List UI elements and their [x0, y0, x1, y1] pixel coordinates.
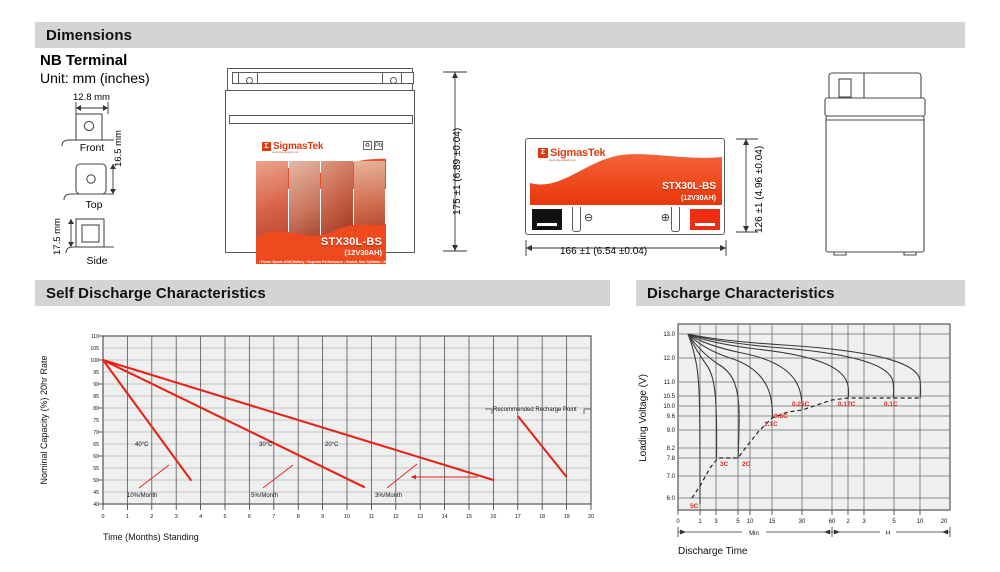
svg-text:17: 17	[515, 514, 521, 520]
sd-y-tick-labels: 110105100 959085 807570 656055 504540	[90, 334, 99, 508]
svg-text:65: 65	[93, 442, 99, 448]
sd-annot-recharge: Recommended Recharge Point	[493, 407, 577, 413]
svg-text:7.0: 7.0	[667, 474, 676, 480]
svg-text:1: 1	[698, 519, 702, 525]
svg-text:20: 20	[941, 519, 948, 525]
svg-text:55: 55	[93, 466, 99, 472]
section-title-self-discharge: Self Discharge Characteristics	[35, 285, 266, 302]
sd-annot-20c: 20°C	[325, 442, 339, 448]
battery-front-view: Σ SigmasTek www.sigmastek.com ♻ Pb STX30…	[225, 68, 415, 253]
battery-tagline: • Power Sports AGM Battery • Superior Pe…	[259, 260, 386, 264]
svg-text:3: 3	[862, 519, 866, 525]
sd-x-ticks	[103, 504, 591, 510]
svg-text:12: 12	[393, 514, 399, 520]
negative-polarity-icon: ⊖	[584, 213, 593, 224]
nb-terminal-title: NB Terminal	[40, 52, 127, 69]
sd-annot-30c: 30°C	[259, 442, 273, 448]
dc-x-ticks	[678, 510, 920, 515]
svg-text:3: 3	[714, 519, 718, 525]
svg-text:5: 5	[224, 514, 227, 520]
svg-text:13: 13	[417, 514, 423, 520]
battery-top-label: Σ SigmasTek www.sigmastek.com STX30L-BS …	[530, 143, 722, 205]
svg-text:6: 6	[248, 514, 251, 520]
svg-text:0: 0	[102, 514, 105, 520]
dc-label-025c: 0.25C	[792, 401, 810, 408]
svg-text:20: 20	[588, 514, 594, 520]
svg-text:7: 7	[272, 514, 275, 520]
svg-text:1: 1	[126, 514, 129, 520]
sd-y-axis-title: Nominal Capacity (%) 20hr Rate	[39, 355, 49, 484]
svg-text:10.5: 10.5	[663, 394, 675, 400]
sd-annot-40c: 40°C	[135, 442, 149, 448]
svg-text:80: 80	[93, 406, 99, 412]
battery-top-view: Σ SigmasTek www.sigmastek.com STX30L-BS …	[525, 138, 725, 235]
battery-vent-left	[238, 72, 258, 84]
svg-text:3: 3	[175, 514, 178, 520]
svg-text:8: 8	[297, 514, 300, 520]
terminal-view-top-label: Top	[64, 199, 124, 211]
svg-text:14: 14	[442, 514, 448, 520]
dc-plot-area	[678, 324, 950, 510]
battery-label-artwork: Σ SigmasTek www.sigmastek.com ♻ Pb STX30…	[256, 139, 386, 264]
svg-text:45: 45	[93, 490, 99, 496]
svg-text:75: 75	[93, 418, 99, 424]
svg-text:16: 16	[490, 514, 496, 520]
unit-label: Unit: mm (inches)	[40, 70, 150, 86]
svg-text:85: 85	[93, 394, 99, 400]
svg-text:30: 30	[799, 519, 806, 525]
svg-text:100: 100	[90, 358, 99, 364]
svg-text:10: 10	[747, 519, 754, 525]
dc-y-tick-labels: 13.0 12.0 11.0 10.5 10.0 9.6 9.0 8.2 7.8…	[663, 332, 675, 502]
svg-text:19: 19	[564, 514, 570, 520]
battery-model-front: STX30L-BS	[321, 236, 382, 248]
dc-label-3c: 3C	[720, 461, 729, 468]
terminal-depth-dimension: 17.5 mm	[52, 218, 63, 255]
svg-text:95: 95	[93, 370, 99, 376]
svg-text:10: 10	[344, 514, 350, 520]
terminal-views-drawing	[40, 88, 200, 273]
battery-case-shelf	[229, 115, 413, 124]
recycle-icon: ♻	[363, 141, 372, 150]
sd-x-tick-labels: 012 345 678 91011 121314 151617 181920	[102, 514, 595, 520]
battery-case: Σ SigmasTek www.sigmastek.com ♻ Pb STX30…	[225, 90, 415, 253]
svg-text:60: 60	[93, 454, 99, 460]
eco-icon-group: ♻ Pb	[363, 141, 383, 150]
discharge-chart: 13.0 12.0 11.0 10.5 10.0 9.6 9.0 8.2 7.8…	[632, 318, 972, 568]
positive-polarity-icon: ⊕	[661, 213, 670, 224]
svg-text:13.0: 13.0	[663, 332, 675, 338]
dimensions-content: NB Terminal Unit: mm (inches)	[0, 0, 1000, 270]
svg-text:105: 105	[90, 346, 99, 352]
dc-span-label-h: H	[886, 531, 890, 537]
svg-text:15: 15	[769, 519, 776, 525]
battery-terminal-row: ⊖ ⊕	[530, 207, 722, 232]
brand-url-top: www.sigmastek.com	[549, 158, 576, 162]
svg-text:10.0: 10.0	[663, 404, 675, 410]
section-header-self-discharge: Self Discharge Characteristics	[35, 280, 610, 306]
battery-model-top: STX30L-BS	[662, 181, 716, 192]
dc-label-0.6c: 0.6C	[774, 413, 788, 420]
dc-label-5c: 5C	[690, 503, 699, 510]
svg-text:18: 18	[539, 514, 545, 520]
dc-span-label-min: Min	[749, 531, 759, 537]
dc-label-017c: 0.17C	[838, 401, 856, 408]
svg-text:4: 4	[199, 514, 202, 520]
svg-text:8.2: 8.2	[667, 446, 676, 452]
sd-annot-10pct: 10%/Month	[127, 493, 157, 499]
svg-text:60: 60	[829, 519, 836, 525]
svg-text:40: 40	[93, 502, 99, 508]
svg-text:11: 11	[369, 514, 375, 520]
svg-text:5: 5	[892, 519, 896, 525]
terminal-height-dimension: 16.5 mm	[113, 130, 124, 167]
terminal-tab-right	[671, 207, 680, 232]
dc-x-tick-labels: 013 51015 30602 3510 20	[676, 519, 948, 525]
spec-sheet-page: Dimensions NB Terminal Unit: mm (inches)	[0, 0, 1000, 572]
svg-text:15: 15	[466, 514, 472, 520]
battery-top-cap	[227, 68, 413, 92]
battery-depth-dimension: 126 ±1 (4.96 ±0.04)	[754, 146, 765, 233]
terminal-tab-left	[572, 207, 581, 232]
sd-x-axis-title: Time (Months) Standing	[103, 532, 199, 542]
lead-pb-icon: Pb	[374, 141, 383, 150]
svg-text:2: 2	[846, 519, 850, 525]
battery-side-view	[820, 65, 930, 260]
self-discharge-chart: 110105100 959085 807570 656055 504540	[35, 318, 610, 568]
svg-text:2: 2	[150, 514, 153, 520]
svg-text:7.8: 7.8	[667, 456, 676, 462]
dc-label-1.1c: 1.1C	[764, 421, 778, 428]
terminal-width-dimension: 12.8 mm	[73, 92, 110, 103]
svg-text:11.0: 11.0	[664, 380, 676, 386]
battery-top-shell: Σ SigmasTek www.sigmastek.com STX30L-BS …	[525, 138, 725, 235]
svg-text:5: 5	[736, 519, 740, 525]
dc-span-bars	[678, 527, 950, 537]
svg-text:0: 0	[676, 519, 680, 525]
dc-y-axis-title: Loading Voltage (V)	[638, 374, 649, 462]
section-header-discharge: Discharge Characteristics	[636, 280, 965, 306]
sigma-mark-icon: Σ	[262, 142, 271, 151]
svg-text:90: 90	[93, 382, 99, 388]
svg-text:70: 70	[93, 430, 99, 436]
dc-label-2c: 2C	[742, 461, 751, 468]
positive-terminal-block	[690, 209, 720, 230]
svg-text:110: 110	[91, 334, 99, 340]
battery-spec-top: (12V30AH)	[681, 195, 716, 202]
svg-text:10: 10	[917, 519, 924, 525]
svg-text:9.6: 9.6	[667, 414, 676, 420]
battery-width-dimension: 166 ±1 (6.54 ±0.04)	[560, 246, 647, 257]
terminal-view-side-label: Side	[67, 255, 127, 267]
negative-terminal-block	[532, 209, 562, 230]
sd-annot-3pct: 3%/Month	[375, 493, 402, 499]
svg-text:9: 9	[321, 514, 324, 520]
svg-text:12.0: 12.0	[663, 356, 675, 362]
battery-height-dimension: 175 ±1 (6.89 ±0.04)	[452, 128, 463, 215]
sigma-mark-icon-top: Σ	[538, 148, 548, 158]
svg-text:50: 50	[93, 478, 99, 484]
dc-x-axis-title: Discharge Time	[678, 546, 748, 557]
dc-label-01c: 0.1C	[884, 401, 898, 408]
brand-url: www.sigmastek.com	[272, 150, 299, 154]
battery-vent-right	[382, 72, 402, 84]
battery-spec-front: (12V30AH)	[344, 248, 382, 257]
svg-text:9.0: 9.0	[667, 428, 676, 434]
svg-text:6.0: 6.0	[667, 496, 676, 502]
section-title-discharge: Discharge Characteristics	[636, 285, 835, 302]
sd-annot-5pct: 5%/Month	[251, 493, 278, 499]
